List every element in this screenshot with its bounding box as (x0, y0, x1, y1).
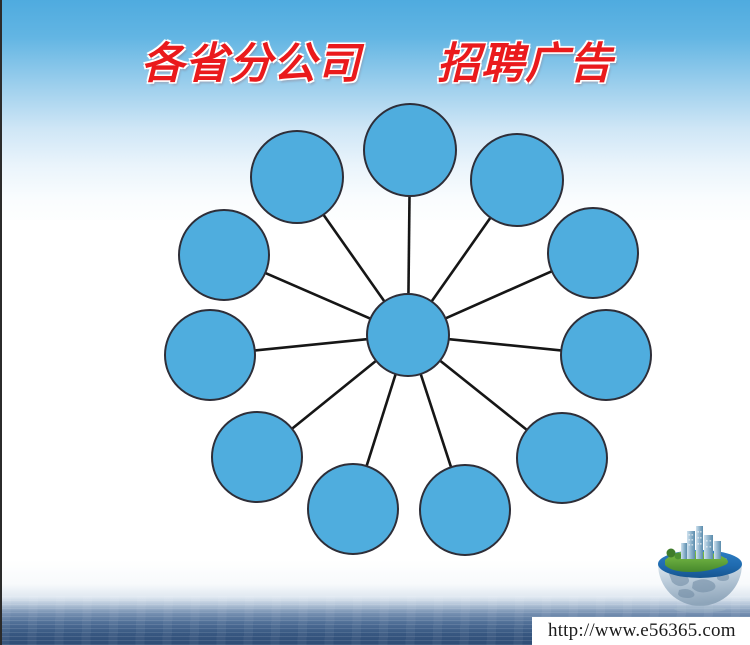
spoke-node-circle-7[interactable] (308, 464, 398, 554)
spoke-line-3 (445, 271, 553, 319)
hub-node-circle[interactable] (367, 294, 449, 376)
spoke-node-circle-1[interactable] (364, 104, 456, 196)
spoke-line-4 (448, 339, 562, 351)
watermark-url: http://www.e56365.com (548, 620, 736, 642)
spoke-line-6 (420, 373, 451, 468)
slide-canvas: 各省分公司 招聘广告 (0, 0, 750, 645)
spoke-line-5 (439, 360, 527, 431)
spoke-line-2 (431, 217, 491, 302)
spoke-node-circle-8[interactable] (212, 412, 302, 502)
spoke-line-1 (408, 195, 409, 295)
spoke-line-10 (264, 273, 371, 320)
diagram-svg (2, 0, 750, 645)
spoke-node-circle-5[interactable] (517, 413, 607, 503)
spoke-node-circle-2[interactable] (471, 134, 563, 226)
spoke-node-circle-3[interactable] (548, 208, 638, 298)
spoke-node-circle-6[interactable] (420, 465, 510, 555)
spoke-node-circle-10[interactable] (179, 210, 269, 300)
spoke-line-11 (323, 214, 385, 302)
hub-and-spoke-diagram (2, 0, 750, 645)
spoke-line-9 (254, 339, 368, 351)
spoke-node-circle-11[interactable] (251, 131, 343, 223)
spoke-line-8 (291, 360, 377, 429)
spoke-node-circle-4[interactable] (561, 310, 651, 400)
spoke-node-circle-9[interactable] (165, 310, 255, 400)
spoke-line-7 (366, 373, 396, 467)
watermark-bar: http://www.e56365.com (532, 617, 750, 645)
